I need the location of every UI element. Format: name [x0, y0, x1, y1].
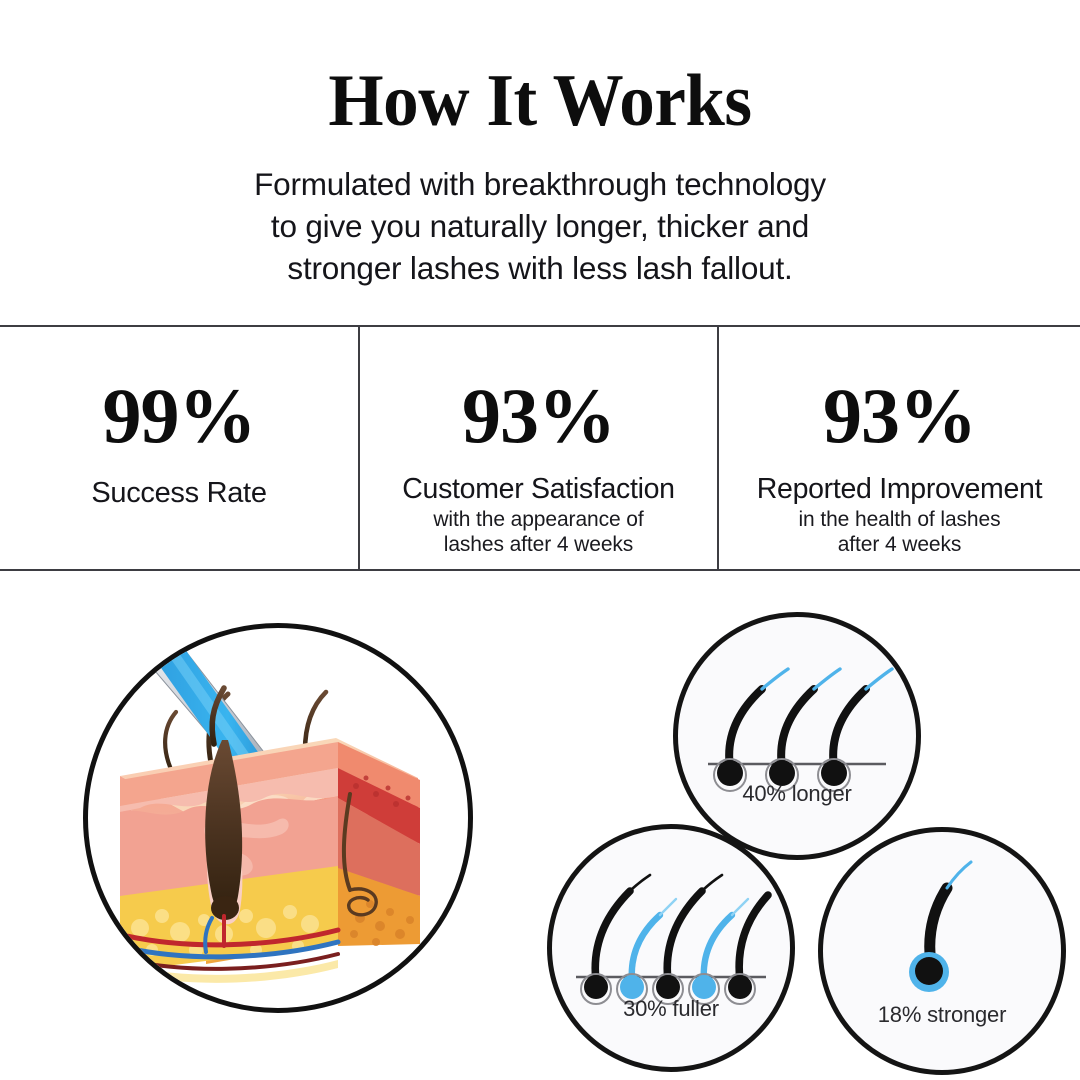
stat-value: 93%: [823, 377, 976, 455]
single-thick-follicle-glow-icon: [823, 832, 1061, 1070]
benefit-caption: 18% stronger: [823, 1002, 1061, 1028]
skin-cross-section-circle: [83, 623, 473, 1013]
stat-label: Reported Improvement: [757, 473, 1042, 505]
three-hair-follicles-icon: [678, 617, 916, 855]
benefit-circle-fuller: 30% fuller: [547, 824, 795, 1072]
stats-strip: 99% Success Rate 93% Customer Satisfacti…: [0, 325, 1080, 571]
illustration-area: 40% longer: [0, 571, 1080, 1080]
skin-cross-section-diagram: [88, 628, 468, 1008]
stat-sublabel: with the appearance of lashes after 4 we…: [433, 508, 643, 557]
benefit-circle-longer: 40% longer: [673, 612, 921, 860]
stat-cell-customer-satisfaction: 93% Customer Satisfaction with the appea…: [358, 327, 717, 569]
stat-label: Success Rate: [91, 477, 266, 509]
skin-right-face: [338, 742, 420, 946]
page-title: How It Works: [22, 62, 1059, 140]
benefit-caption: 40% longer: [678, 781, 916, 807]
five-hair-follicles-icon: [552, 829, 790, 1067]
stat-cell-success-rate: 99% Success Rate: [0, 327, 358, 569]
benefit-caption: 30% fuller: [552, 996, 790, 1022]
stat-label: Customer Satisfaction: [402, 473, 674, 505]
stat-value: 93%: [462, 377, 615, 455]
page-subtitle: Formulated with breakthrough technology …: [90, 163, 990, 289]
benefit-circle-stronger: 18% stronger: [818, 827, 1066, 1075]
stat-value: 99%: [103, 377, 256, 455]
stat-cell-reported-improvement: 93% Reported Improvement in the health o…: [717, 327, 1080, 569]
header: How It Works Formulated with breakthroug…: [0, 0, 1080, 325]
stat-sublabel: in the health of lashes after 4 weeks: [798, 508, 1000, 557]
